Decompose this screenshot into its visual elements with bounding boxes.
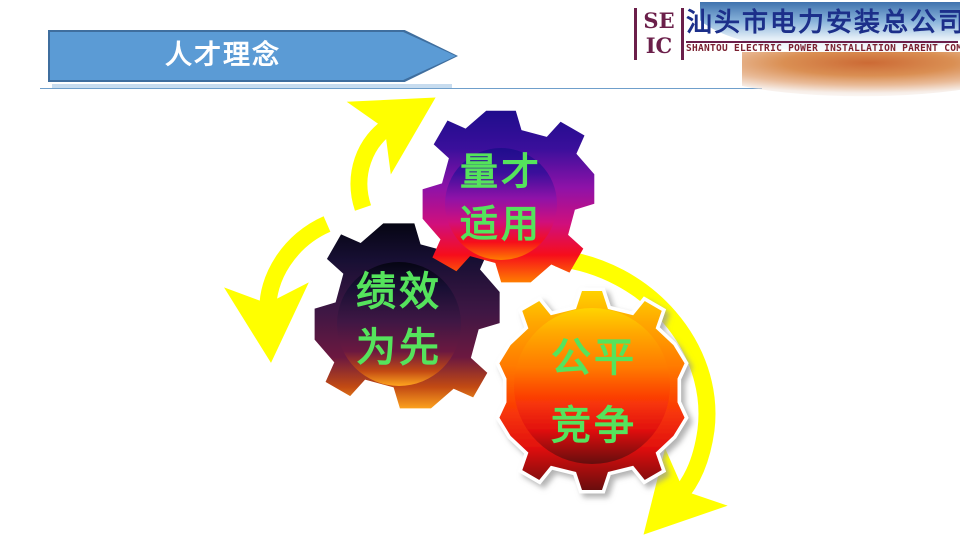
arrow-curved-up (359, 124, 392, 208)
gear-right-shape (492, 272, 696, 504)
page-title: 人才理念 (48, 30, 398, 82)
logo-monogram-line2: IC (637, 33, 681, 58)
company-name-chinese: 汕头市电力安装总公司 (686, 6, 958, 40)
slide-canvas: 人才理念 SE IC 汕头市电力安装总公司 SHANTOU ELECTRIC P… (0, 0, 960, 540)
company-logo: SE IC 汕头市电力安装总公司 SHANTOU ELECTRIC POWER … (634, 6, 960, 62)
title-banner: 人才理念 (48, 30, 458, 82)
logo-monogram-line1: SE (637, 8, 681, 33)
gear-gongping-jingzheng[interactable]: 公平 竞争 (492, 272, 696, 504)
company-name-english: SHANTOU ELECTRIC POWER INSTALLATION PARE… (686, 43, 952, 54)
logo-monogram: SE IC (634, 8, 684, 60)
header-divider-rule (40, 88, 762, 89)
